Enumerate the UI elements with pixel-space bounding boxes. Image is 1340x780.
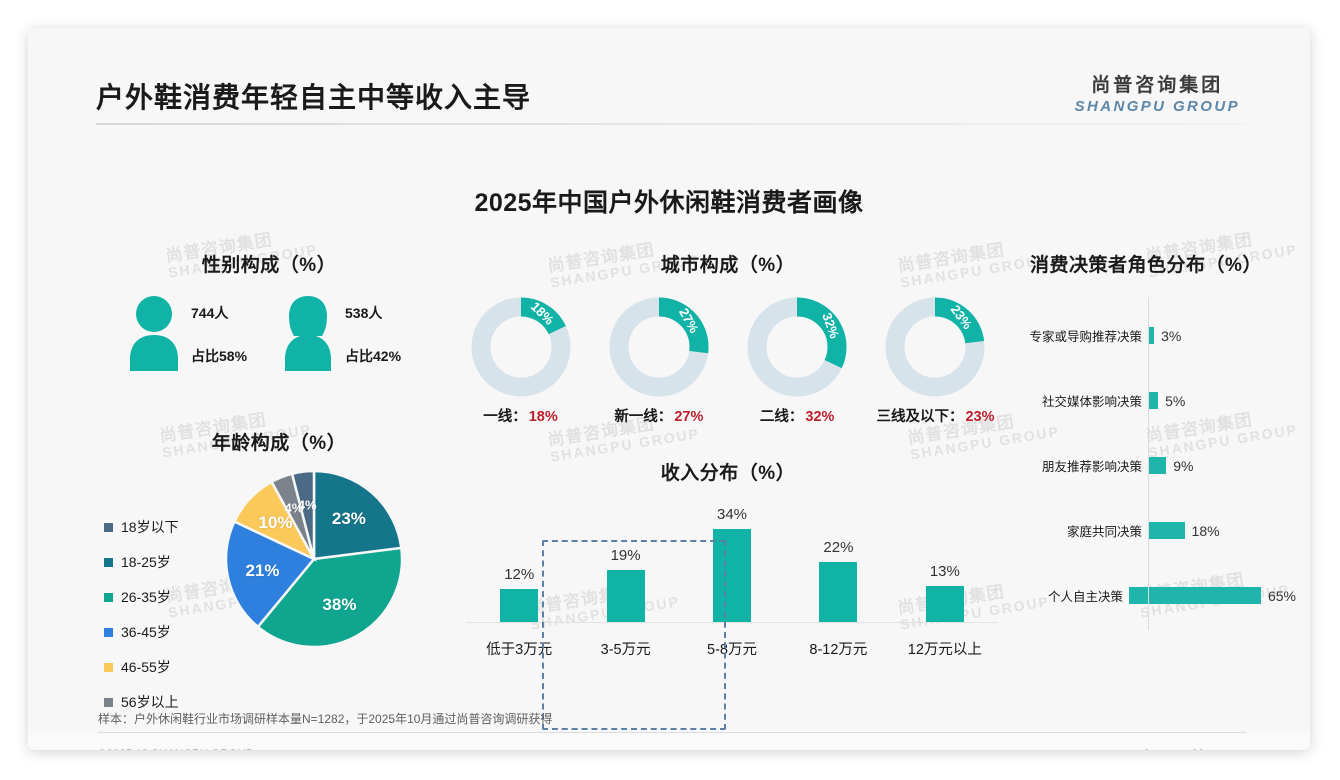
- donut-caption: 三线及以下：23%: [873, 405, 998, 426]
- legend-swatch: [104, 698, 113, 707]
- income-bar-column: 13%: [892, 494, 998, 622]
- legend-swatch: [104, 593, 113, 602]
- role-bar-row: 朋友推荐影响决策9%: [996, 433, 1296, 498]
- income-highlight-box: [542, 540, 726, 730]
- role-bar-row: 专家或导购推荐决策3%: [996, 303, 1296, 368]
- gender-male-count: 744人: [191, 303, 247, 323]
- income-bar: [500, 589, 538, 622]
- donut-caption-label: 一线：: [483, 409, 527, 425]
- donut-caption-value: 18%: [529, 409, 558, 425]
- slide-header: 户外鞋消费年轻自主中等收入主导 尚普咨询集团 SHANGPU GROUP: [28, 28, 1310, 123]
- pie-slice-label: 4%: [298, 497, 317, 512]
- donut-caption-value: 23%: [965, 409, 994, 425]
- pie-slice-label: 38%: [322, 595, 356, 615]
- decision-role-bar-chart: 专家或导购推荐决策3%社交媒体影响决策5%朋友推荐影响决策9%家庭共同决策18%…: [996, 303, 1296, 628]
- role-bar: [1148, 457, 1166, 474]
- age-pie-legend: 18岁以下 18-25岁 26-35岁 36-45岁 46-55岁 56岁以上: [104, 469, 216, 727]
- income-bar: [819, 562, 857, 622]
- role-bar-label: 家庭共同决策: [996, 521, 1148, 540]
- city-composition-panel: 城市构成（%） 18%一线：18%27%新一线：27%32%二线：32%23%三…: [448, 250, 1008, 426]
- income-bar-category: 8-12万元: [785, 638, 891, 659]
- income-bar-value: 13%: [930, 563, 960, 580]
- donut-caption-value: 32%: [805, 409, 834, 425]
- donut-caption-value: 27%: [674, 409, 703, 425]
- legend-item: 36-45岁: [104, 622, 216, 642]
- legend-swatch: [104, 628, 113, 637]
- role-bar-row: 家庭共同决策18%: [996, 498, 1296, 563]
- city-donut-chart: 18%: [471, 297, 571, 397]
- role-bar: [1148, 392, 1158, 409]
- age-composition-panel: 年龄构成（%） 18岁以下 18-25岁 26-35岁 36-45岁 46-55…: [104, 428, 454, 727]
- male-person-icon: [126, 295, 182, 371]
- legend-label: 56岁以上: [121, 692, 179, 712]
- city-donut-item: 18%一线：18%: [458, 297, 583, 426]
- role-bar-value: 65%: [1268, 588, 1296, 604]
- income-bar-chart: 12%19%34%22%13% 低于3万元3-5万元5-8万元8-12万元12万…: [448, 495, 1008, 667]
- legend-item: 26-35岁: [104, 587, 216, 607]
- gender-female-share: 占比42%: [345, 346, 401, 366]
- donut-caption: 一线：18%: [458, 405, 583, 426]
- role-bar-value: 9%: [1173, 458, 1193, 474]
- header-divider: [96, 123, 1246, 125]
- legend-item: 18-25岁: [104, 552, 216, 572]
- city-donut-chart: 23%: [885, 297, 985, 397]
- gender-item-male: 744人 占比58%: [126, 295, 280, 371]
- legend-label: 26-35岁: [121, 587, 171, 607]
- legend-label: 36-45岁: [121, 622, 171, 642]
- gender-item-female: 538人 占比42%: [280, 295, 434, 371]
- donut-caption-label: 新一线：: [614, 409, 672, 425]
- role-bar-label: 朋友推荐影响决策: [996, 456, 1148, 475]
- female-person-icon: [280, 295, 336, 371]
- roles-panel-title: 消费决策者角色分布（%）: [996, 250, 1296, 277]
- slide-card: 尚普咨询集团SHANGPU GROUP 尚普咨询集团SHANGPU GROUP …: [28, 28, 1310, 750]
- role-bar-label: 专家或导购推荐决策: [996, 326, 1148, 345]
- pie-slice-label: 23%: [332, 509, 366, 529]
- income-bar-value: 34%: [717, 506, 747, 523]
- role-bar-row: 社交媒体影响决策5%: [996, 368, 1296, 433]
- pie-slice-label: 10%: [258, 513, 292, 533]
- income-panel-title: 收入分布（%）: [448, 458, 1008, 485]
- donut-caption-label: 三线及以下：: [876, 409, 963, 425]
- brand-logo-en: SHANGPU GROUP: [1075, 98, 1240, 115]
- legend-label: 18-25岁: [121, 552, 171, 572]
- income-bar-column: 22%: [785, 494, 891, 622]
- age-pie-chart: 23%38%21%10%4%4%: [224, 469, 404, 649]
- legend-swatch: [104, 523, 113, 532]
- city-donut-item: 32%二线：32%: [735, 297, 860, 426]
- city-donut-item: 23%三线及以下：23%: [873, 297, 998, 426]
- donut-caption-label: 二线：: [760, 409, 804, 425]
- city-donut-item: 27%新一线：27%: [596, 297, 721, 426]
- role-bar-label: 个人自主决策: [996, 586, 1129, 605]
- age-panel-title: 年龄构成（%）: [104, 428, 454, 455]
- pie-slice-label: 21%: [245, 561, 279, 581]
- city-donut-chart: 32%: [747, 297, 847, 397]
- role-bar-value: 3%: [1161, 328, 1181, 344]
- legend-item: 46-55岁: [104, 657, 216, 677]
- legend-swatch: [104, 558, 113, 567]
- donut-caption: 新一线：27%: [596, 405, 721, 426]
- income-bar: [926, 586, 964, 622]
- footer-copyright: ©2025.12 SHANGPU GROUP: [98, 749, 253, 750]
- footer-website[interactable]: www.shangpu-china.com: [1112, 749, 1240, 750]
- gender-male-share: 占比58%: [191, 346, 247, 366]
- chart-main-title: 2025年中国户外休闲鞋消费者画像: [28, 183, 1310, 219]
- roles-axis-line: [1148, 297, 1149, 630]
- city-panel-title: 城市构成（%）: [448, 250, 1008, 277]
- income-bar-category: 12万元以上: [892, 638, 998, 659]
- role-bar-row: 个人自主决策65%: [996, 563, 1296, 628]
- gender-composition-panel: 性别构成（%） 744人 占比58% 538人 占比4: [104, 250, 434, 371]
- legend-label: 46-55岁: [121, 657, 171, 677]
- income-bar-value: 12%: [504, 566, 534, 583]
- gender-female-count: 538人: [345, 303, 401, 323]
- income-bar-value: 22%: [823, 539, 853, 556]
- income-distribution-panel: 收入分布（%） 12%19%34%22%13% 低于3万元3-5万元5-8万元8…: [448, 458, 1008, 698]
- brand-logo: 尚普咨询集团 SHANGPU GROUP: [1075, 70, 1240, 115]
- legend-label: 18岁以下: [121, 517, 179, 537]
- role-bar: [1148, 522, 1185, 539]
- gender-panel-title: 性别构成（%）: [104, 250, 434, 277]
- sample-footnote: 样本：户外休闲鞋行业市场调研样本量N=1282，于2025年10月通过尚普咨询调…: [98, 710, 552, 727]
- brand-logo-cn: 尚普咨询集团: [1075, 70, 1240, 97]
- role-bar-value: 5%: [1165, 393, 1185, 409]
- legend-item: 56岁以上: [104, 692, 216, 712]
- role-bar-label: 社交媒体影响决策: [996, 391, 1148, 410]
- page-title: 户外鞋消费年轻自主中等收入主导: [96, 76, 531, 116]
- decision-role-panel: 消费决策者角色分布（%） 专家或导购推荐决策3%社交媒体影响决策5%朋友推荐影响…: [996, 250, 1296, 628]
- city-donut-chart: 27%: [609, 297, 709, 397]
- role-bar-value: 18%: [1192, 523, 1220, 539]
- legend-item: 18岁以下: [104, 517, 216, 537]
- donut-caption: 二线：32%: [735, 405, 860, 426]
- legend-swatch: [104, 663, 113, 672]
- slide-footer: ©2025.12 SHANGPU GROUP www.shangpu-china…: [28, 733, 1310, 750]
